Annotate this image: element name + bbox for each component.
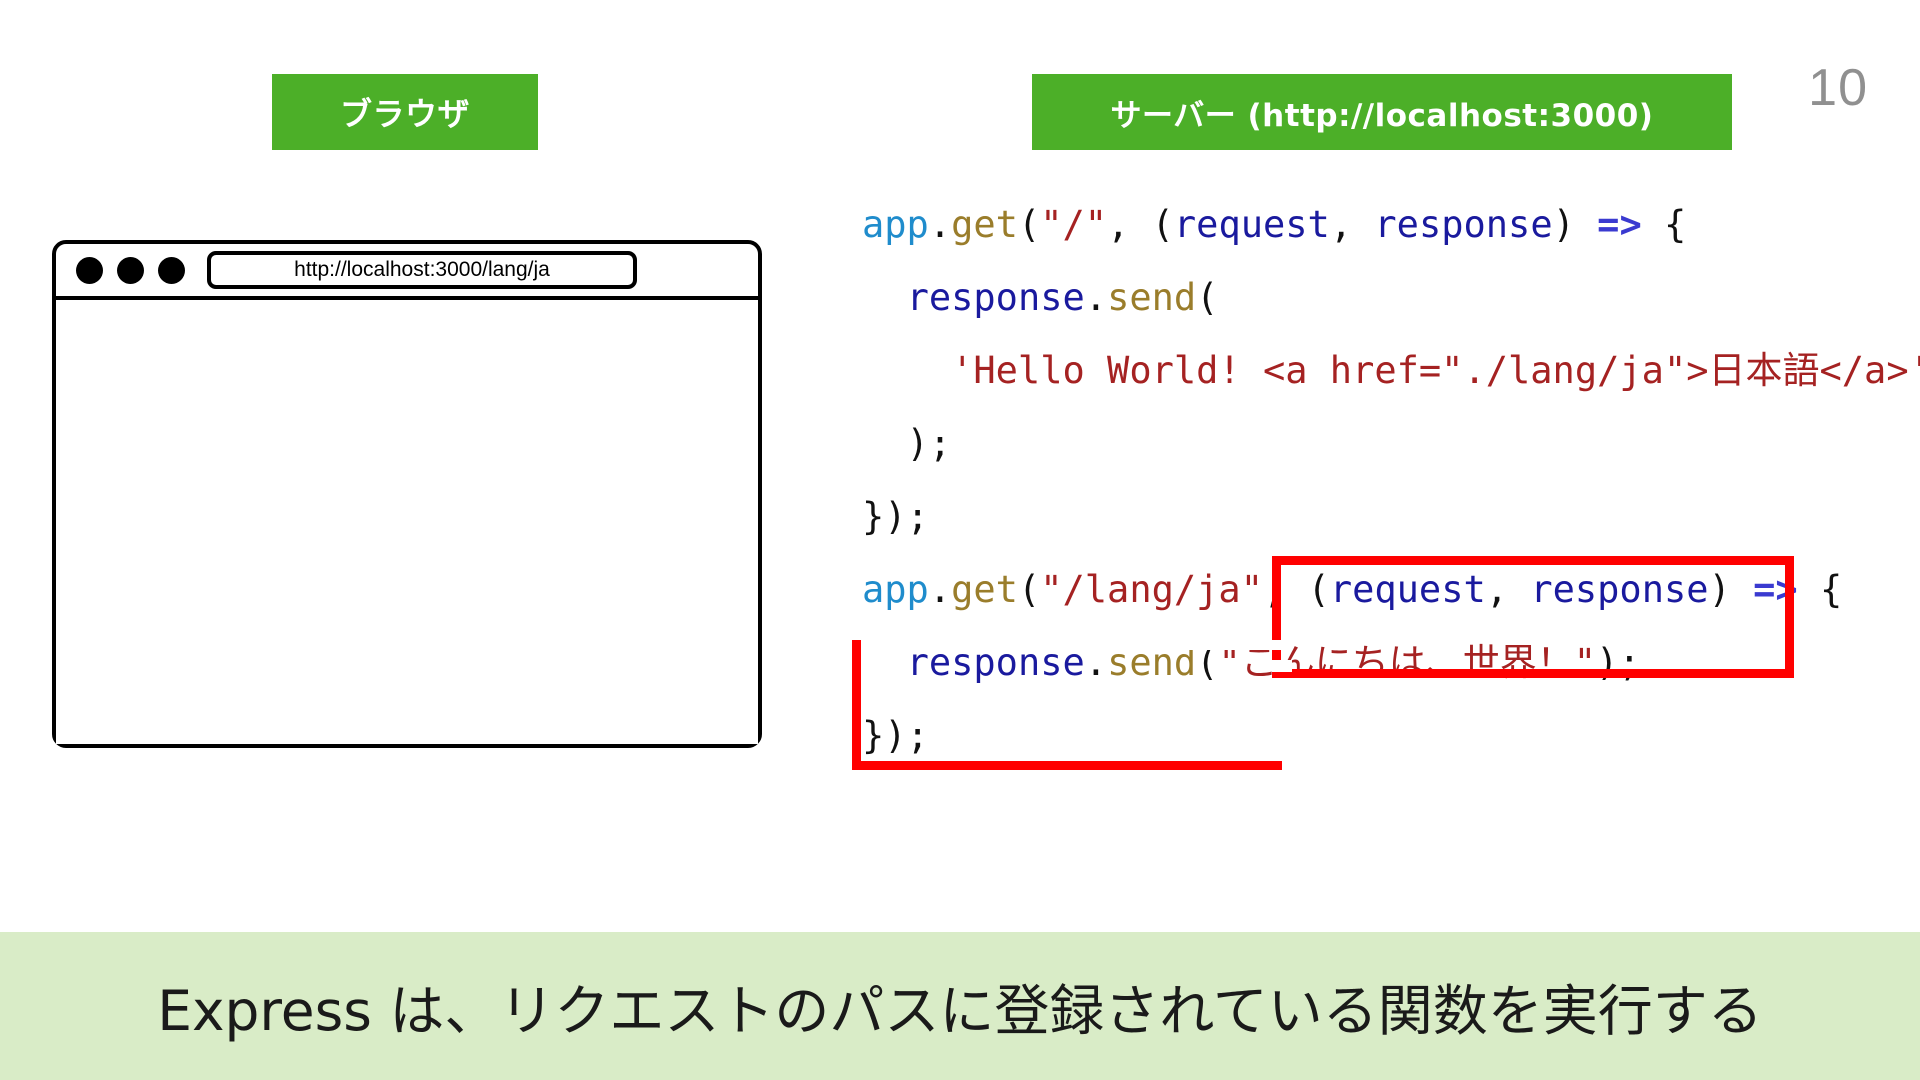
code-token: . xyxy=(929,203,951,246)
code-token: response xyxy=(907,641,1085,684)
code-token: ); xyxy=(1596,641,1641,684)
code-line: }); xyxy=(862,699,1920,772)
code-token: }); xyxy=(862,714,929,757)
browser-section-label-text: ブラウザ xyxy=(340,89,470,135)
code-token xyxy=(862,349,951,392)
code-token: "/lang/ja" xyxy=(1040,568,1263,611)
browser-chrome: http://localhost:3000/lang/ja xyxy=(56,244,758,300)
code-token: ) xyxy=(1709,568,1754,611)
address-bar[interactable]: http://localhost:3000/lang/ja xyxy=(207,251,637,289)
code-line: app.get("/", (request, response) => { xyxy=(862,188,1920,261)
browser-section-label: ブラウザ xyxy=(272,74,538,150)
caption-text: Express は、リクエストのパスに登録されている関数を実行する xyxy=(157,966,1763,1046)
address-bar-url: http://localhost:3000/lang/ja xyxy=(294,258,550,282)
code-token: }); xyxy=(862,495,929,538)
server-section-label-text: サーバー (http://localhost:3000) xyxy=(1111,90,1654,135)
code-token: ( xyxy=(1018,568,1040,611)
code-token: . xyxy=(929,568,951,611)
code-token xyxy=(862,276,907,319)
page-number: 10 xyxy=(1808,58,1868,118)
code-token: { xyxy=(1642,203,1687,246)
code-token: app xyxy=(862,203,929,246)
code-line: ); xyxy=(862,407,1920,480)
code-token: request xyxy=(1330,568,1486,611)
code-token: . xyxy=(1085,641,1107,684)
code-token: response xyxy=(907,276,1085,319)
code-line: response.send("こんにちは、世界！"); xyxy=(862,626,1920,699)
code-token: => xyxy=(1753,568,1798,611)
code-token: . xyxy=(1085,276,1107,319)
code-token: request xyxy=(1174,203,1330,246)
code-token: , xyxy=(1486,568,1531,611)
code-token: => xyxy=(1597,203,1642,246)
code-token: ( xyxy=(1196,641,1218,684)
code-line: app.get("/lang/ja", (request, response) … xyxy=(862,553,1920,626)
code-token: , xyxy=(1330,203,1375,246)
code-token: ) xyxy=(1553,203,1598,246)
code-token: "こんにちは、世界！" xyxy=(1218,641,1596,684)
code-token: ( xyxy=(1308,568,1330,611)
code-token: "/" xyxy=(1040,203,1107,246)
server-section-label: サーバー (http://localhost:3000) xyxy=(1032,74,1732,150)
code-token: ); xyxy=(862,422,951,465)
window-minimize-dot-icon[interactable] xyxy=(117,257,144,284)
caption-banner: Express は、リクエストのパスに登録されている関数を実行する xyxy=(0,932,1920,1080)
code-token: ( xyxy=(1152,203,1174,246)
code-token: 'Hello World! <a href="./lang/ja">日本語</a… xyxy=(951,349,1920,392)
code-token: ( xyxy=(1196,276,1218,319)
code-token: send xyxy=(1107,276,1196,319)
code-token: app xyxy=(862,568,929,611)
code-token: response xyxy=(1374,203,1552,246)
code-token xyxy=(862,641,907,684)
code-line: }); xyxy=(862,480,1920,553)
code-token: send xyxy=(1107,641,1196,684)
code-token: ( xyxy=(1018,203,1040,246)
code-line: 'Hello World! <a href="./lang/ja">日本語</a… xyxy=(862,334,1920,407)
code-token: response xyxy=(1530,568,1708,611)
code-token: { xyxy=(1798,568,1843,611)
browser-viewport[interactable] xyxy=(56,300,758,744)
code-block: app.get("/", (request, response) => { re… xyxy=(862,188,1920,772)
window-close-dot-icon[interactable] xyxy=(76,257,103,284)
window-control-dots xyxy=(76,257,185,284)
code-token: , xyxy=(1263,568,1308,611)
code-line: response.send( xyxy=(862,261,1920,334)
code-token: get xyxy=(951,203,1018,246)
browser-window-mockup: http://localhost:3000/lang/ja xyxy=(52,240,762,748)
code-token: get xyxy=(951,568,1018,611)
slide-root: 10 ブラウザ サーバー (http://localhost:3000) htt… xyxy=(0,0,1920,1080)
window-maximize-dot-icon[interactable] xyxy=(158,257,185,284)
code-token: , xyxy=(1107,203,1152,246)
